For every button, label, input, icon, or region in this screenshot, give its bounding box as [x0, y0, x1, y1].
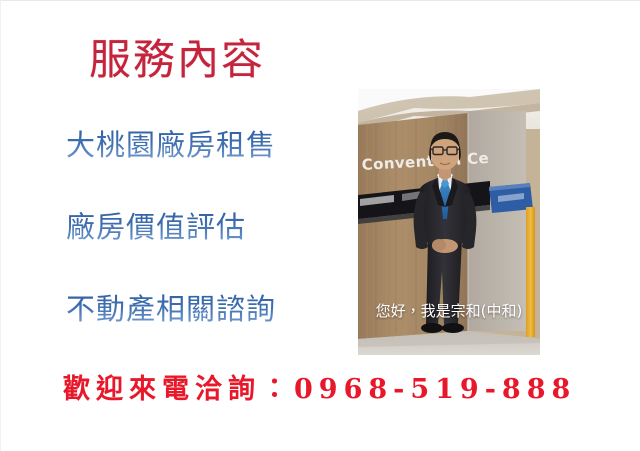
- service-list: 大桃園廠房租售 廠房價值評估 不動產相關諮詢: [66, 127, 326, 327]
- portrait-photo: Convention Ce: [358, 89, 540, 355]
- list-item: 大桃園廠房租售: [66, 127, 326, 163]
- contact-call-to-action: 歡迎來電洽詢：0968-519-888: [63, 373, 576, 407]
- page-title: 服務內容: [89, 34, 265, 86]
- list-item: 廠房價值評估: [66, 209, 326, 245]
- portrait-photo-image: Convention Ce: [358, 89, 540, 355]
- slide-canvas: 服務內容 大桃園廠房租售 廠房價值評估 不動產相關諮詢 歡迎來電洽詢：0968-…: [0, 0, 640, 451]
- list-item: 不動產相關諮詢: [66, 291, 326, 327]
